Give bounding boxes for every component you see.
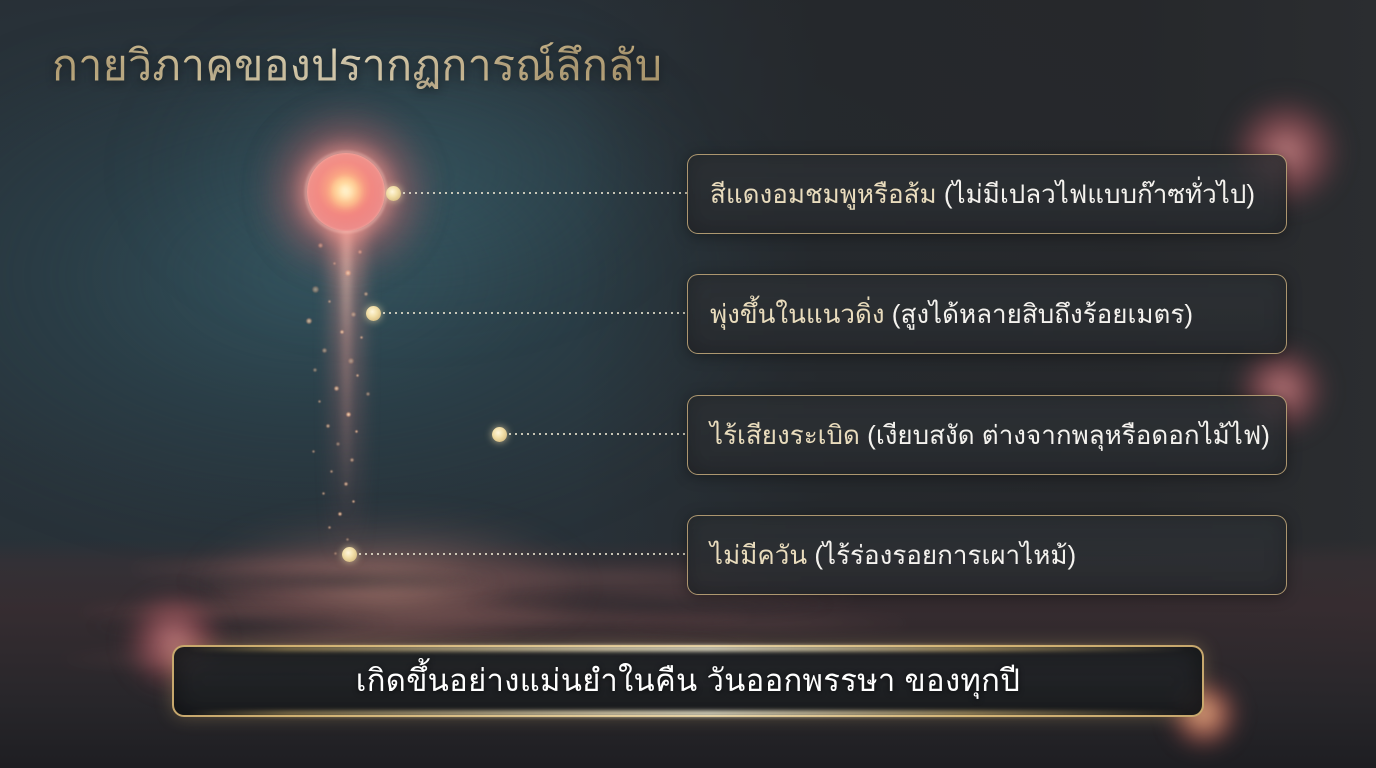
fireball-core	[330, 176, 362, 208]
water-ripple-shadow	[180, 572, 500, 590]
connector-dot-1	[386, 186, 401, 201]
spark-particle	[340, 330, 344, 334]
spark-particle	[366, 392, 370, 396]
callout-text-2: พุ่งขึ้นในแนวดิ่ง (สูงได้หลายสิบถึงร้อยเ…	[710, 294, 1193, 334]
callout-paren-1: (ไม่มีเปลวไฟแบบก๊าซทั่วไป)	[944, 179, 1255, 209]
connector-line-3	[507, 433, 687, 435]
spark-particle	[336, 442, 340, 446]
spark-particle	[356, 374, 359, 377]
spark-particle	[338, 512, 342, 516]
bottom-banner[interactable]: เกิดขึ้นอย่างแม่นยำในคืน วันออกพรรษา ของ…	[172, 645, 1204, 717]
spark-particle	[318, 400, 321, 403]
spark-particle	[322, 492, 325, 495]
spark-particle	[313, 368, 317, 372]
callout-box-1[interactable]: สีแดงอมชมพูหรือส้ม (ไม่มีเปลวไฟแบบก๊าซทั…	[687, 154, 1287, 234]
callout-lead-2: พุ่งขึ้นในแนวดิ่ง	[710, 299, 892, 329]
callout-lead-1: สีแดงอมชมพูหรือส้ม	[710, 179, 944, 209]
callout-box-2[interactable]: พุ่งขึ้นในแนวดิ่ง (สูงได้หลายสิบถึงร้อยเ…	[687, 274, 1287, 354]
spark-particle	[355, 430, 358, 433]
spark-particle	[328, 526, 331, 529]
spark-particle	[348, 358, 354, 364]
connector-dot-2	[366, 306, 381, 321]
callout-paren-4: (ไร้ร่องรอยการเผาไหม้)	[814, 540, 1076, 570]
connector-line-4	[357, 553, 687, 555]
spark-particle	[350, 458, 354, 462]
spark-particle	[344, 482, 348, 486]
callout-lead-4: ไม่มีควัน	[710, 540, 814, 570]
spark-particle	[346, 538, 349, 541]
spark-particle	[360, 336, 363, 339]
callout-box-3[interactable]: ไร้เสียงระเบิด (เงียบสงัด ต่างจากพลุหรือ…	[687, 395, 1287, 475]
connector-dot-3	[492, 427, 507, 442]
callout-text-3: ไร้เสียงระเบิด (เงียบสงัด ต่างจากพลุหรือ…	[710, 415, 1270, 455]
connector-line-2	[381, 312, 687, 314]
spark-particle	[334, 386, 339, 391]
spark-particle	[334, 552, 337, 555]
callout-box-4[interactable]: ไม่มีควัน (ไร้ร่องรอยการเผาไหม้)	[687, 515, 1287, 595]
spark-particle	[306, 318, 312, 324]
callout-lead-3: ไร้เสียงระเบิด	[710, 420, 867, 450]
spark-particle	[312, 450, 315, 453]
banner-text: เกิดขึ้นอย่างแม่นยำในคืน วันออกพรรษา ของ…	[356, 657, 1020, 705]
spark-particle	[328, 300, 331, 303]
spark-particle	[322, 348, 327, 353]
page-title: กายวิภาคของปรากฏการณ์ลึกลับ	[52, 34, 662, 98]
spark-particle	[352, 500, 355, 503]
spark-particle	[364, 292, 368, 296]
spark-particle	[351, 312, 356, 317]
callout-paren-3: (เงียบสงัด ต่างจากพลุหรือดอกไม้ไฟ)	[867, 420, 1270, 450]
callout-paren-2: (สูงได้หลายสิบถึงร้อยเมตร)	[892, 299, 1193, 329]
callout-text-1: สีแดงอมชมพูหรือส้ม (ไม่มีเปลวไฟแบบก๊าซทั…	[710, 174, 1255, 214]
banner-streak-bottom	[188, 711, 1188, 716]
connector-dot-4	[342, 547, 357, 562]
spark-particle	[312, 286, 319, 293]
water-ripple	[610, 612, 910, 634]
spark-particle	[330, 470, 333, 473]
spark-particle	[346, 412, 351, 417]
slide-canvas: กายวิภาคของปรากฏการณ์ลึกลับ สีแดงอมชมพูห…	[0, 0, 1376, 768]
water-ripple-shadow	[470, 596, 830, 614]
spark-particle	[326, 424, 330, 428]
callout-text-4: ไม่มีควัน (ไร้ร่องรอยการเผาไหม้)	[710, 535, 1076, 575]
banner-streak-top	[188, 646, 1188, 651]
connector-line-1	[401, 192, 687, 194]
